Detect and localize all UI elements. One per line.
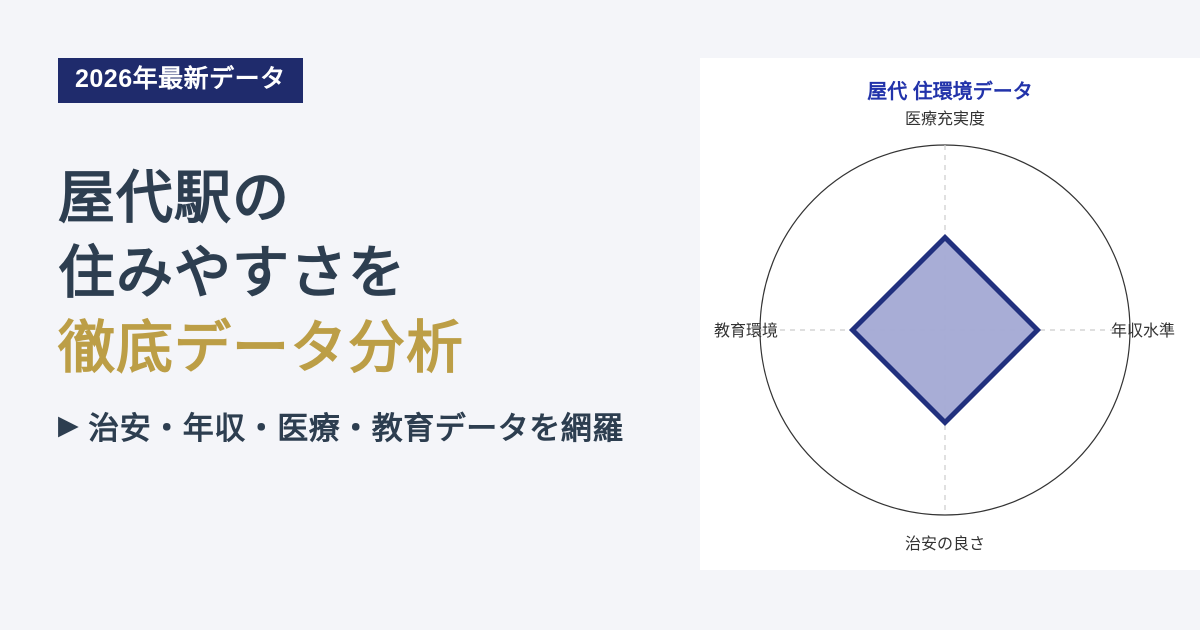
date-badge: 2026年最新データ [58, 58, 303, 103]
poster-root: 2026年最新データ 屋代駅の 住みやすさを 徹底データ分析 ▶ 治安・年収・医… [0, 0, 1200, 630]
headline-line-3-accent: 徹底データ分析 [58, 311, 700, 386]
chart-title: 屋代 住環境データ [867, 79, 1033, 103]
axis-label-bottom: 治安の良さ [905, 535, 985, 553]
axis-label-right: 年収水準 [1111, 322, 1175, 340]
subtitle: ▶ 治安・年収・医療・教育データを網羅 [58, 403, 700, 448]
radar-chart-panel: 屋代 住環境データ 医療充実度 年収水準 治安の良さ 教育環境 [700, 58, 1200, 570]
triangle-marker-icon: ▶ [58, 412, 79, 439]
radar-chart-svg: 屋代 住環境データ 医療充実度 年収水準 治安の良さ 教育環境 [700, 58, 1200, 570]
headline-line-2: 住みやすさを [58, 236, 700, 311]
axis-label-left: 教育環境 [714, 321, 778, 340]
left-content-panel: 2026年最新データ 屋代駅の 住みやすさを 徹底データ分析 ▶ 治安・年収・医… [0, 0, 700, 630]
page-title: 屋代駅の 住みやすさを 徹底データ分析 [58, 161, 700, 387]
subtitle-text: 治安・年収・医療・教育データを網羅 [88, 403, 624, 448]
headline-line-1: 屋代駅の [58, 161, 700, 236]
axis-label-top: 医療充実度 [905, 110, 985, 128]
radar-data-polygon [853, 238, 1038, 423]
